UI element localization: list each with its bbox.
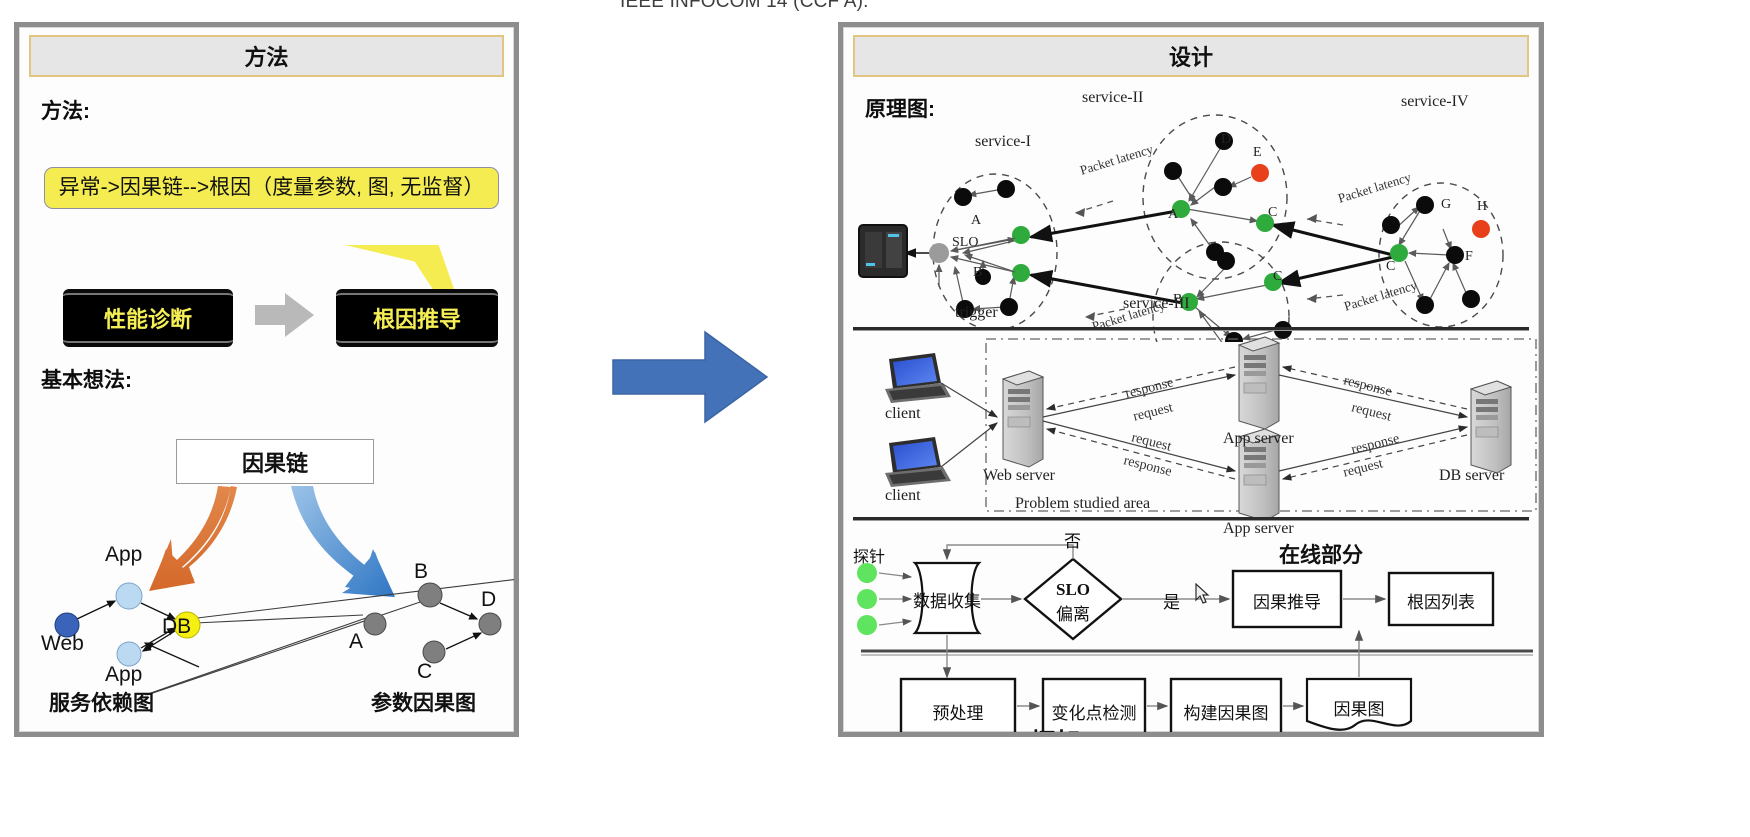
web-server-icon bbox=[1003, 371, 1043, 467]
param-node-label-a: A bbox=[349, 630, 363, 654]
probe-label: 探针 bbox=[853, 543, 885, 567]
param-node-label-c: C bbox=[417, 660, 432, 684]
slo-decision-label-2: 偏离 bbox=[1049, 600, 1097, 625]
causal-inference-label: 因果推导 bbox=[1233, 588, 1341, 613]
orange-curved-arrow-left bbox=[149, 486, 237, 591]
changepoint-label: 变化点检测 bbox=[1043, 699, 1145, 724]
root-cause-list-label: 根因列表 bbox=[1389, 588, 1493, 613]
blue-curved-arrow-right bbox=[291, 486, 395, 597]
service-node-label-app2: App bbox=[105, 663, 142, 687]
build-graph-label: 构建因果图 bbox=[1171, 699, 1281, 724]
trigger-monitor-icon bbox=[859, 225, 907, 277]
client-label-1: client bbox=[885, 405, 921, 423]
slide-canvas: IEEE INFOCOM 14 (CCF A). 方法 方法: 异常->因果链-… bbox=[0, 0, 1750, 837]
probe-dots bbox=[857, 563, 877, 635]
service-iv-label: service-IV bbox=[1401, 93, 1469, 111]
right-slide-panel: 设计 原理图: bbox=[838, 22, 1544, 737]
service-i-label: service-I bbox=[975, 133, 1031, 151]
param-node-label-b: B bbox=[414, 560, 428, 584]
app-server-icon-1 bbox=[1239, 337, 1279, 429]
top-caption: IEEE INFOCOM 14 (CCF A). bbox=[620, 0, 869, 13]
service-node-label-db: DB bbox=[162, 615, 191, 639]
architecture-diagram bbox=[843, 77, 1539, 342]
svc4-node-h-label: H bbox=[1477, 199, 1487, 215]
service-node-label-web: Web bbox=[41, 632, 84, 656]
probe-links bbox=[879, 573, 911, 625]
svc2-node-d-label: D bbox=[1221, 132, 1231, 148]
client-laptop-icon-1 bbox=[885, 353, 951, 403]
db-server-label: DB server bbox=[1439, 467, 1504, 485]
svc2-node-a-label: A bbox=[1168, 207, 1178, 223]
data-collection-label: 数据收集 bbox=[911, 587, 983, 612]
svc4-node-c-label: C bbox=[1386, 259, 1395, 275]
client-laptop-icon-2 bbox=[885, 437, 951, 487]
web-server-label: Web server bbox=[983, 467, 1055, 485]
right-slide-title: 设计 bbox=[853, 35, 1529, 77]
online-part-label: 在线部分 bbox=[1279, 539, 1363, 569]
param-node-label-d: D bbox=[481, 588, 496, 612]
causal-graph-label: 因果图 bbox=[1307, 695, 1411, 720]
left-slide-panel: 方法 方法: 异常->因果链-->根因（度量参数, 图, 无监督） 性能诊断 根… bbox=[14, 22, 519, 737]
problem-area-label: Problem studied area bbox=[1015, 495, 1150, 513]
framework-label: CauseInfer框架 bbox=[901, 723, 1080, 732]
param-graph-edges bbox=[440, 603, 481, 649]
svc2-node-e-label: E bbox=[1253, 145, 1262, 161]
transition-arrow-icon bbox=[610, 322, 770, 432]
client-label-2: client bbox=[885, 487, 921, 505]
svc4-node-g-label: G bbox=[1441, 197, 1451, 213]
yes-branch-label: 是 bbox=[1163, 588, 1180, 613]
left-slide-content: 方法 方法: 异常->因果链-->根因（度量参数, 图, 无监督） 性能诊断 根… bbox=[19, 27, 514, 732]
no-branch-path bbox=[947, 545, 1073, 559]
trigger-label: trigger bbox=[955, 304, 998, 322]
deployment-diagram bbox=[843, 331, 1539, 521]
cross-graph-lines bbox=[145, 579, 514, 695]
svc2-node-c-label: C bbox=[1268, 205, 1277, 221]
slo-node bbox=[929, 243, 949, 263]
svc3-node-b-label: B bbox=[1173, 292, 1182, 308]
packet-latency-arrows bbox=[1075, 201, 1343, 317]
idea-arrows-and-graphs bbox=[19, 27, 514, 732]
mouse-pointer-arrow-icon bbox=[1195, 583, 1211, 605]
service-graph-caption: 服务依赖图 bbox=[49, 687, 154, 717]
db-server-icon bbox=[1471, 381, 1511, 473]
param-graph-caption: 参数因果图 bbox=[371, 687, 476, 717]
service-ii-label: service-II bbox=[1082, 89, 1143, 107]
slo-label: SLO bbox=[952, 235, 978, 251]
service-node-label-app1: App bbox=[105, 543, 142, 567]
service-i-node-a-label: A bbox=[971, 213, 981, 229]
app-server-label-1: App server bbox=[1223, 430, 1294, 448]
offline-part-label: 离线部分 bbox=[1155, 727, 1235, 732]
service-i-node-b-label: B bbox=[973, 265, 982, 281]
right-slide-content: 设计 原理图: bbox=[843, 27, 1539, 732]
svc3-node-c-label: C bbox=[1273, 269, 1282, 285]
preprocess-label: 预处理 bbox=[901, 699, 1015, 724]
no-branch-label: 否 bbox=[1064, 527, 1081, 552]
slo-decision-label-1: SLO bbox=[1049, 580, 1097, 600]
svc4-node-f-label: F bbox=[1465, 249, 1473, 265]
